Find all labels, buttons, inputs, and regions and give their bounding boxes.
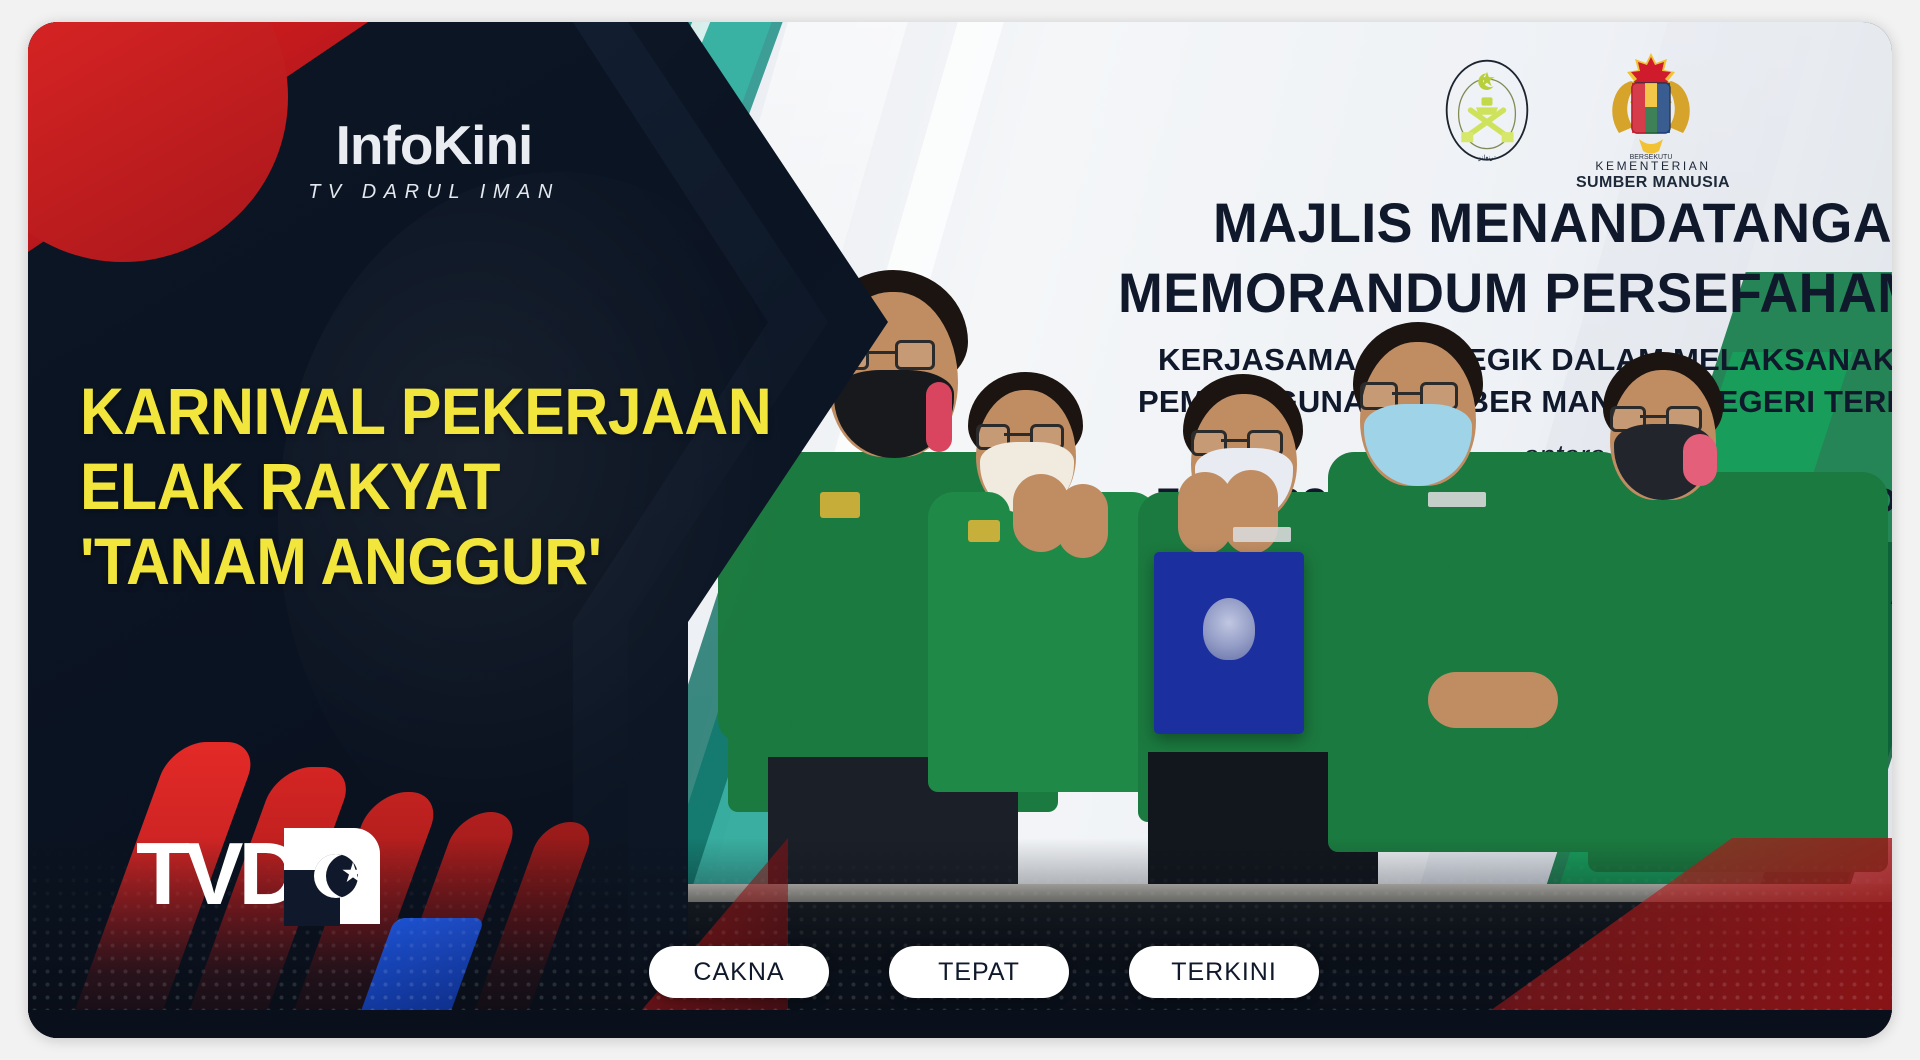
event-photograph: ترنغانو BERSEKUTU KEMENTERIAN: [28, 22, 1892, 1038]
malaysia-coat-of-arms-icon: BERSEKUTU: [1591, 47, 1711, 162]
banner-title-line-2: MEMORANDUM PERSEFAHAMAN (MOU): [1118, 260, 1892, 325]
news-thumbnail-card: ترنغانو BERSEKUTU KEMENTERIAN: [28, 22, 1892, 1038]
terengganu-state-crest-icon: ترنغانو: [1441, 57, 1533, 167]
banner-subtitle-line-1: KERJASAMA STRATEGIK DALAM MELAKSANAKAN A…: [1158, 342, 1892, 378]
banner-title-line-1: MAJLIS MENANDATANGANI: [1213, 190, 1892, 255]
ministry-caption-line1: KEMENTERIAN: [1563, 160, 1743, 174]
ministry-caption: KEMENTERIAN SUMBER MANUSIA: [1563, 160, 1743, 192]
svg-text:ترنغانو: ترنغانو: [1477, 155, 1495, 162]
signing-table: [358, 902, 1892, 972]
